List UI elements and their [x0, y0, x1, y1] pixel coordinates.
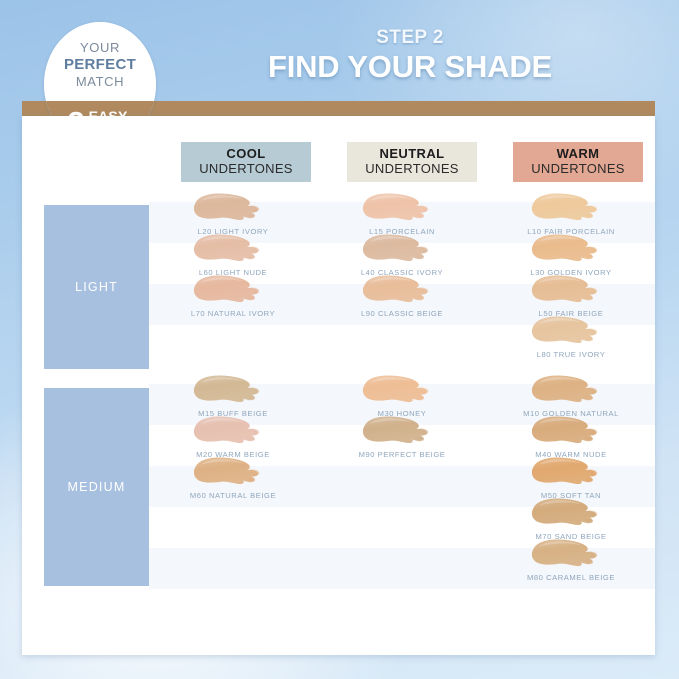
shade-swatch-icon [528, 274, 614, 306]
shade-swatch-icon [359, 192, 445, 224]
shade-cell[interactable]: M80 CARAMEL BEIGE [487, 548, 655, 589]
undertone-name-warm: WARM [557, 147, 600, 162]
shade-swatch-icon [528, 497, 614, 529]
page-title: FIND YOUR SHADE [170, 51, 650, 84]
category-block-light: LIGHT [44, 205, 149, 369]
shade-label: L90 CLASSIC BEIGE [318, 309, 486, 318]
category-block-medium: MEDIUM [44, 388, 149, 586]
shade-swatch-icon [528, 192, 614, 224]
shade-swatch-icon [359, 233, 445, 265]
undertone-header-cool: COOL UNDERTONES [181, 142, 311, 182]
shade-label: L80 TRUE IVORY [487, 350, 655, 359]
shade-row: M80 CARAMEL BEIGE [149, 548, 655, 589]
shade-cell-empty [318, 466, 486, 507]
undertone-sub-warm: UNDERTONES [531, 162, 625, 177]
shade-label: M60 NATURAL BEIGE [149, 491, 317, 500]
undertone-name-neutral: NEUTRAL [380, 147, 445, 162]
shade-row: L80 TRUE IVORY [149, 325, 655, 366]
badge-line-3: MATCH [76, 74, 124, 89]
shade-cell-empty [318, 325, 486, 366]
shade-swatch-icon [359, 374, 445, 406]
shade-swatch-icon [190, 456, 276, 488]
shade-swatch-icon [528, 456, 614, 488]
undertone-header-warm: WARM UNDERTONES [513, 142, 643, 182]
shade-cell[interactable]: L70 NATURAL IVORY [149, 284, 317, 325]
shade-swatch-icon [359, 274, 445, 306]
badge-top-half: YOUR PERFECT MATCH [44, 22, 156, 101]
step-label: STEP 2 [170, 27, 650, 49]
undertone-header-neutral: NEUTRAL UNDERTONES [347, 142, 477, 182]
shade-cell[interactable]: M90 PERFECT BEIGE [318, 425, 486, 466]
undertone-name-cool: COOL [226, 147, 265, 162]
shade-cell-empty [149, 325, 317, 366]
page-header: STEP 2 FIND YOUR SHADE YOUR PERFECT MATC… [0, 0, 679, 118]
shade-cell-empty [149, 507, 317, 548]
shade-swatch-icon [190, 233, 276, 265]
shade-swatch-icon [528, 538, 614, 570]
shade-cell-empty [318, 548, 486, 589]
undertone-header-row: COOL UNDERTONES NEUTRAL UNDERTONES WARM … [22, 142, 655, 182]
shade-swatch-icon [190, 415, 276, 447]
title-block: STEP 2 FIND YOUR SHADE [170, 27, 650, 84]
shade-swatch-icon [190, 192, 276, 224]
shade-cell-empty [149, 548, 317, 589]
shade-swatch-icon [528, 315, 614, 347]
badge-line-2: PERFECT [64, 56, 136, 73]
shade-swatch-icon [190, 374, 276, 406]
shade-label: L70 NATURAL IVORY [149, 309, 317, 318]
shade-label: M90 PERFECT BEIGE [318, 450, 486, 459]
shade-swatch-icon [528, 374, 614, 406]
badge-line-1: YOUR [80, 40, 120, 55]
undertone-sub-neutral: UNDERTONES [365, 162, 459, 177]
shade-cell[interactable]: L90 CLASSIC BEIGE [318, 284, 486, 325]
shade-grid: L20 LIGHT IVORY L15 PORCELAIN L10 FAIR P… [149, 202, 655, 589]
shade-cell[interactable]: M60 NATURAL BEIGE [149, 466, 317, 507]
shade-swatch-icon [528, 415, 614, 447]
undertone-sub-cool: UNDERTONES [199, 162, 293, 177]
shade-cell-empty [318, 507, 486, 548]
shade-chart-panel: COOL UNDERTONES NEUTRAL UNDERTONES WARM … [22, 116, 655, 655]
shade-swatch-icon [190, 274, 276, 306]
shade-swatch-icon [359, 415, 445, 447]
shade-swatch-icon [528, 233, 614, 265]
shade-label: M80 CARAMEL BEIGE [487, 573, 655, 582]
shade-cell[interactable]: L80 TRUE IVORY [487, 325, 655, 366]
